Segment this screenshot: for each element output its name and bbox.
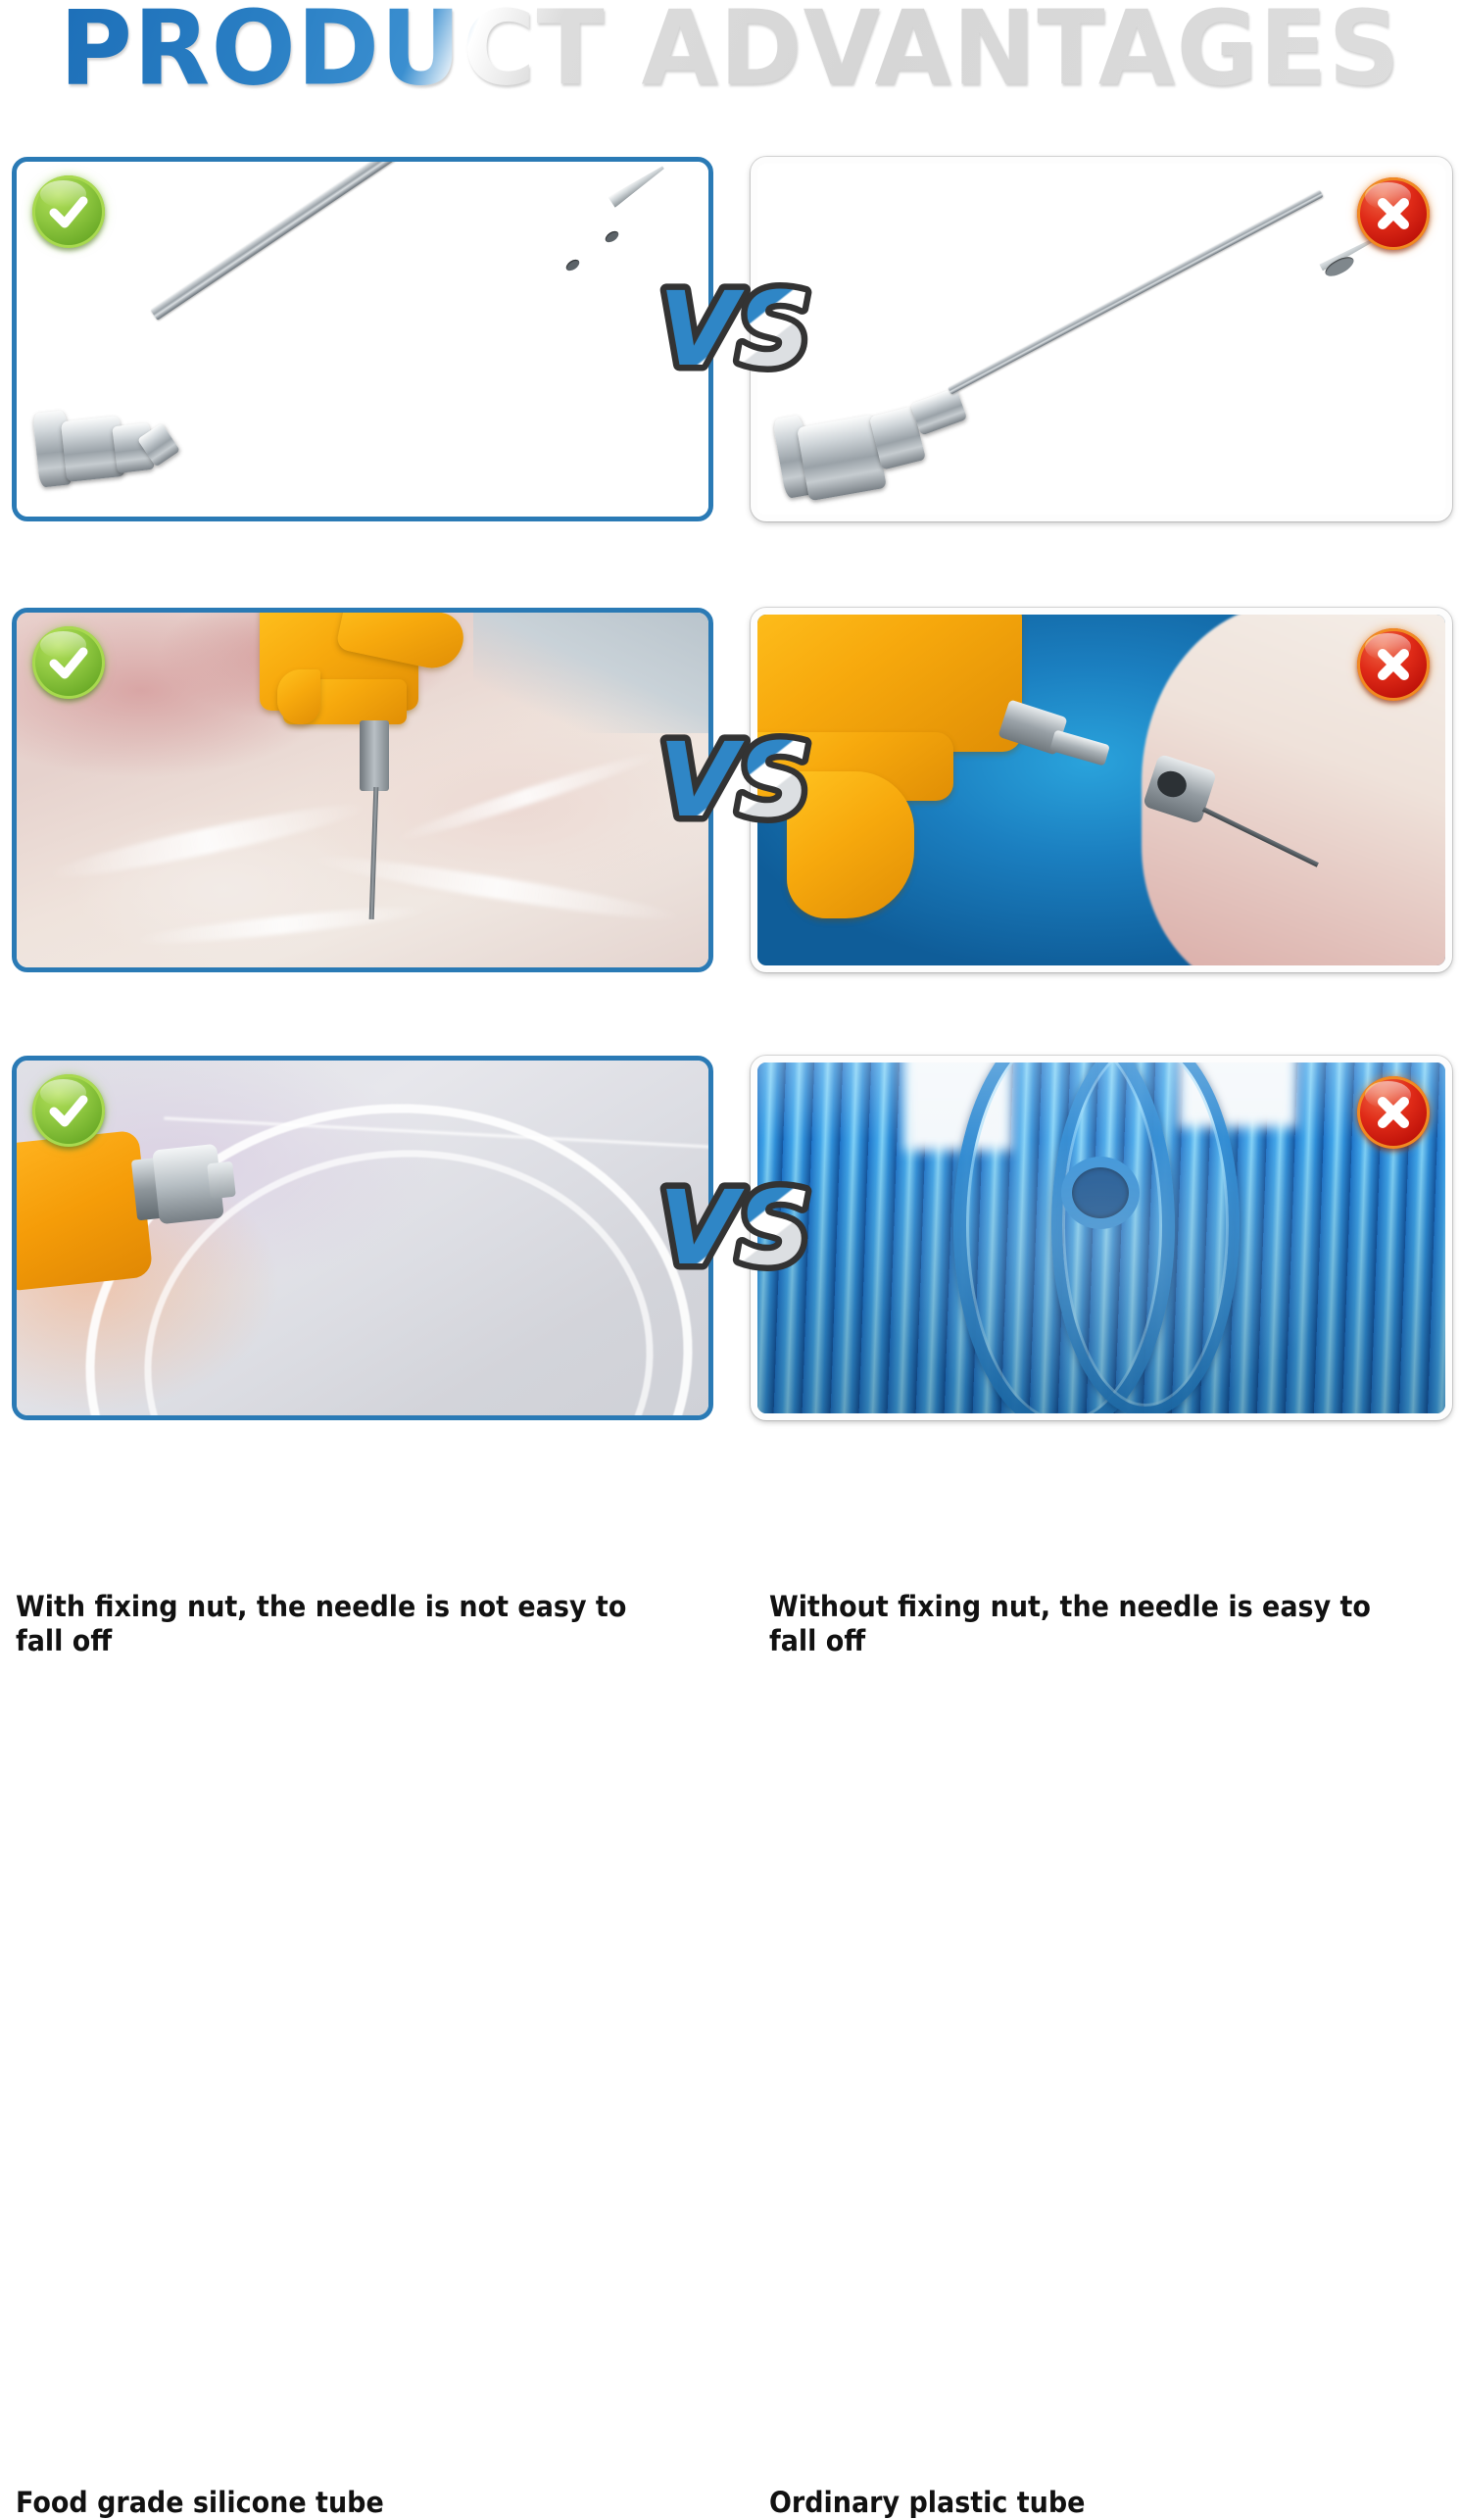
coil-shading xyxy=(757,1062,1445,1413)
needle-shaft xyxy=(948,190,1323,395)
injector-gun-hook xyxy=(277,669,320,724)
cross-badge xyxy=(1357,1076,1430,1149)
bad-caption-fixing-nut: Without fixing nut, the needle is easy t… xyxy=(769,1590,1426,1659)
comparison-grid: VS Four-hole needle, the pinhole is on t… xyxy=(0,0,1460,1470)
food-grade-silicone-tube-photo xyxy=(17,1061,708,1415)
svg-text:VS: VS xyxy=(658,720,810,840)
cross-badge xyxy=(1357,628,1430,701)
needle-shaft xyxy=(150,157,531,321)
bad-panel-needle-holes xyxy=(751,157,1452,521)
fixing-nut xyxy=(360,720,389,791)
injector-with-fixing-nut-photo xyxy=(17,613,708,967)
good-caption-tube-material: Food grade silicone tube xyxy=(16,2486,681,2520)
background-wall xyxy=(473,613,708,733)
svg-text:VS: VS xyxy=(658,1168,810,1288)
bad-panel-tube-material xyxy=(751,1056,1452,1420)
vs-badge-fixing-nut: VS xyxy=(642,725,828,843)
cross-badge xyxy=(1357,177,1430,250)
four-hole-needle-photo xyxy=(17,162,708,517)
vs-badge-tube-material: VS xyxy=(642,1173,828,1291)
good-panel-needle-holes xyxy=(12,157,713,521)
svg-text:VS: VS xyxy=(658,270,810,389)
needle-side-hole-1 xyxy=(564,258,581,273)
good-panel-tube-material xyxy=(12,1056,713,1420)
orange-connector xyxy=(12,1130,153,1291)
chrome-tip xyxy=(207,1161,236,1200)
vs-badge-needle-holes: VS xyxy=(642,274,828,392)
good-caption-fixing-nut: With fixing nut, the needle is not easy … xyxy=(16,1590,681,1659)
needle-hub-shoulder xyxy=(910,387,968,435)
check-badge xyxy=(32,1074,105,1147)
single-pinhole-needle-photo xyxy=(757,164,1445,515)
check-badge xyxy=(32,626,105,699)
needle-bevel-tip xyxy=(608,162,666,208)
injector-without-fixing-nut-photo xyxy=(757,615,1445,965)
needle-side-hole-2 xyxy=(604,229,620,245)
bad-panel-fixing-nut xyxy=(751,608,1452,972)
ordinary-plastic-tube-photo xyxy=(757,1062,1445,1413)
bad-caption-tube-material: Ordinary plastic tube xyxy=(769,2486,1426,2520)
check-badge xyxy=(32,175,105,248)
good-panel-fixing-nut xyxy=(12,608,713,972)
